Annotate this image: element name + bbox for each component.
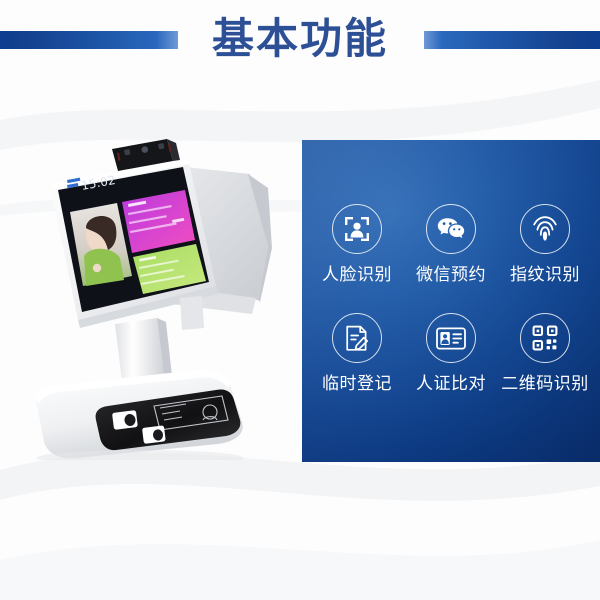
page-header: 基本功能 xyxy=(0,0,600,88)
feature-item-face-recognition[interactable]: 人脸识别 xyxy=(311,204,403,285)
wechat-circle xyxy=(426,204,476,254)
feature-label: 临时登记 xyxy=(322,374,392,394)
id-card-icon xyxy=(436,327,466,350)
document-edit-circle xyxy=(332,313,382,363)
id-card-circle xyxy=(426,313,476,363)
feature-item-id-verification[interactable]: 人证比对 xyxy=(405,313,497,394)
kiosk-base xyxy=(36,370,243,459)
feature-label: 人证比对 xyxy=(416,374,486,394)
face-recognition-icon xyxy=(344,216,370,242)
qr-code-circle xyxy=(520,313,570,363)
feature-label: 二维码识别 xyxy=(501,374,589,394)
feature-label: 指纹识别 xyxy=(510,265,580,285)
feature-grid: 人脸识别 xyxy=(302,140,600,462)
feature-item-wechat-appointment[interactable]: 微信预约 xyxy=(405,204,497,285)
feature-item-fingerprint-recognition[interactable]: 指纹识别 xyxy=(499,204,591,285)
feature-item-temporary-registration[interactable]: 临时登记 xyxy=(311,313,403,394)
fingerprint-icon xyxy=(532,215,558,243)
face-recognition-kiosk: 15:02 xyxy=(20,128,288,460)
feature-label: 微信预约 xyxy=(416,265,486,285)
feature-label: 人脸识别 xyxy=(322,265,392,285)
feature-panel: 人脸识别 xyxy=(302,140,600,462)
page-title: 基本功能 xyxy=(0,10,600,68)
wechat-icon xyxy=(437,217,465,241)
feature-row-bottom: 临时登记 xyxy=(310,313,592,394)
fingerprint-circle xyxy=(520,204,570,254)
feature-item-qr-code-recognition[interactable]: 二维码识别 xyxy=(499,313,591,394)
document-edit-icon xyxy=(344,325,370,352)
feature-row-top: 人脸识别 xyxy=(310,204,592,285)
face-recognition-circle xyxy=(332,204,382,254)
qr-code-icon xyxy=(532,325,558,351)
page-root: 基本功能 xyxy=(0,0,600,600)
